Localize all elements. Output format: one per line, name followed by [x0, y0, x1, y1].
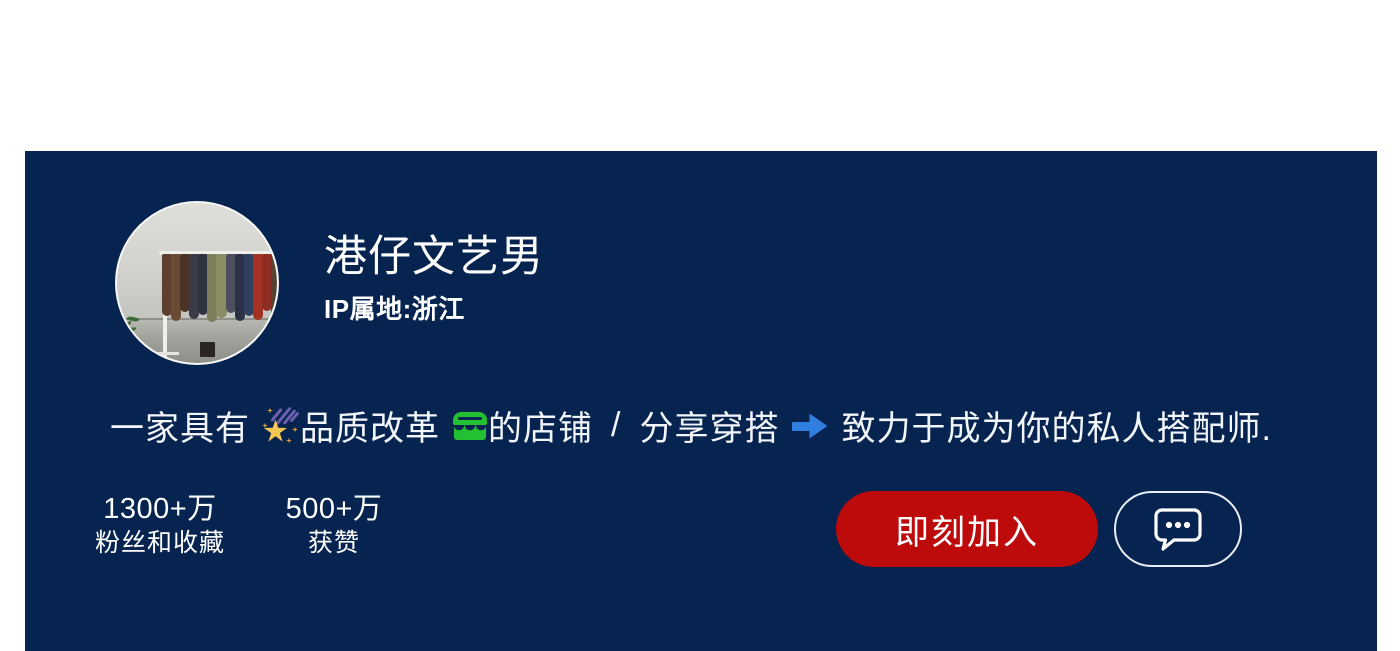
message-button[interactable] — [1114, 491, 1242, 567]
bio-segment-1: 一家具有 — [110, 401, 250, 450]
stat-likes: 500+万 获赞 — [259, 491, 409, 560]
display-name: 港仔文艺男 — [324, 234, 544, 282]
bio-segment-5: 致力于成为你的私人搭配师. — [841, 401, 1271, 450]
bio-separator: / — [593, 406, 639, 445]
bio-segment-2: 品质改革 — [300, 401, 440, 450]
storefront-emoji — [452, 410, 488, 442]
join-button[interactable]: 即刻加入 — [836, 491, 1098, 567]
stats-row: 1300+万 粉丝和收藏 500+万 获赞 — [85, 491, 433, 560]
avatar[interactable] — [115, 201, 279, 365]
bio-segment-4: 分享穿搭 — [639, 401, 779, 450]
profile-header: 港仔文艺男 IP属地:浙江 — [115, 201, 544, 365]
shooting-star-emoji — [262, 407, 300, 445]
name-block: 港仔文艺男 IP属地:浙江 — [324, 234, 544, 331]
stat-value: 1300+万 — [85, 491, 235, 527]
right-arrow-emoji — [791, 412, 829, 440]
profile-card: 港仔文艺男 IP属地:浙江 一家具有 品质改革 — [25, 151, 1377, 651]
avatar-clothing-rack-photo — [117, 203, 277, 363]
page-root: 港仔文艺男 IP属地:浙江 一家具有 品质改革 — [0, 0, 1400, 651]
ip-location: IP属地:浙江 — [324, 289, 544, 326]
bio-line: 一家具有 品质改革 的店铺 / 分享穿搭 — [110, 401, 1272, 450]
bio-segment-3: 的店铺 — [488, 401, 593, 450]
action-buttons: 即刻加入 — [836, 491, 1242, 567]
stat-value: 500+万 — [259, 491, 409, 527]
chat-bubble-dots-icon — [1152, 506, 1204, 552]
stat-label: 粉丝和收藏 — [85, 527, 235, 560]
stat-label: 获赞 — [259, 527, 409, 560]
stat-followers: 1300+万 粉丝和收藏 — [85, 491, 235, 560]
